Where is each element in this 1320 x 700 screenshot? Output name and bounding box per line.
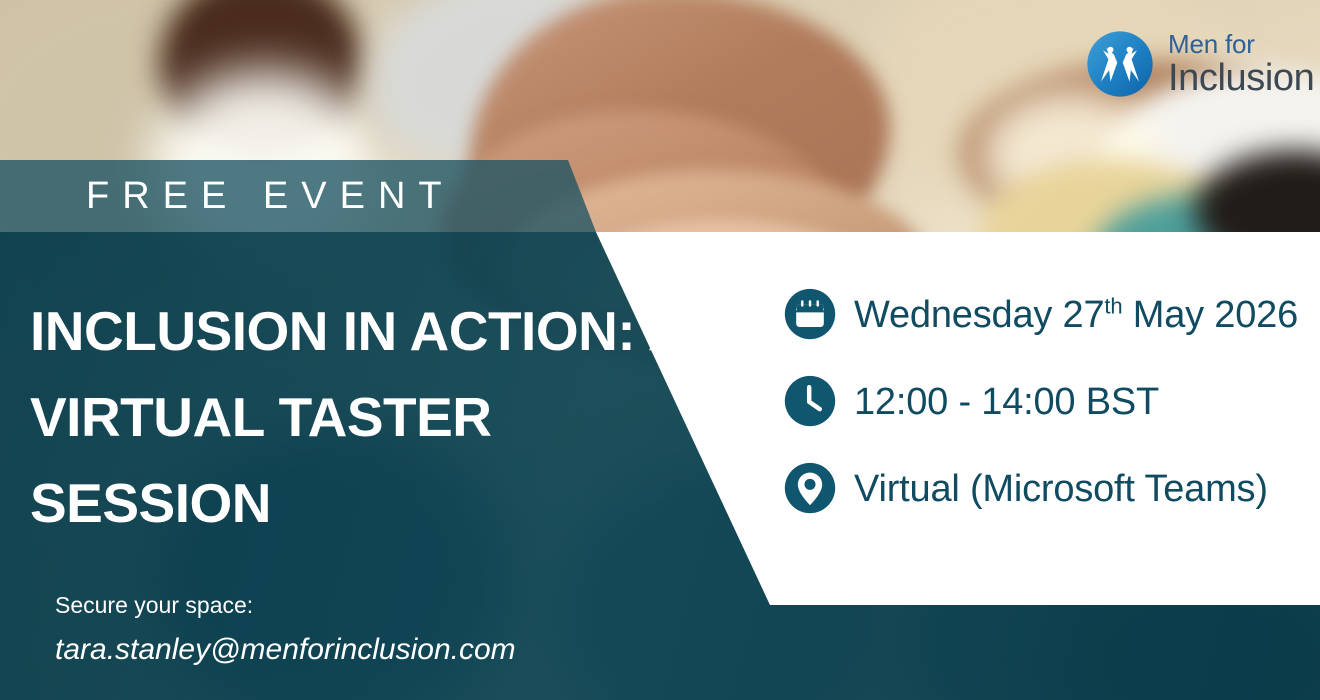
clock-icon	[784, 375, 836, 427]
brand-logo-line1: Men for	[1168, 31, 1314, 57]
location-pin-icon	[784, 462, 836, 514]
brand-logo-line2: Inclusion	[1168, 59, 1314, 97]
event-headline: Inclusion in Action: A Virtual Taster Se…	[30, 288, 690, 546]
detail-row-date: Wednesday 27th May 2026	[784, 286, 1304, 345]
brand-logo: Men for Inclusion	[1086, 30, 1314, 98]
cta-label: Secure your space:	[55, 588, 516, 622]
detail-date-suffix: May 2026	[1122, 294, 1298, 336]
detail-row-time: 12:00 - 14:00 BST	[784, 373, 1304, 432]
detail-text-location: Virtual (Microsoft Teams)	[854, 460, 1268, 519]
detail-row-location: Virtual (Microsoft Teams)	[784, 460, 1304, 519]
brand-logo-wordmark: Men for Inclusion	[1168, 31, 1314, 97]
free-event-label: FREE EVENT	[86, 166, 455, 226]
cta-block: Secure your space: tara.stanley@menforin…	[55, 588, 516, 674]
detail-text-time: 12:00 - 14:00 BST	[854, 373, 1159, 432]
event-poster: FREE EVENT Men for Inclusion	[0, 0, 1320, 700]
calendar-icon	[784, 288, 836, 340]
detail-text-date: Wednesday 27th May 2026	[854, 286, 1298, 345]
cta-email-address[interactable]: tara.stanley@menforinclusion.com	[55, 626, 516, 674]
detail-date-ordinal: th	[1104, 293, 1122, 318]
detail-date-prefix: Wednesday 27	[854, 294, 1104, 336]
event-details-list: Wednesday 27th May 2026 12:00 - 14:00 BS…	[784, 286, 1304, 519]
men-for-inclusion-logo-mark-icon	[1086, 30, 1154, 98]
